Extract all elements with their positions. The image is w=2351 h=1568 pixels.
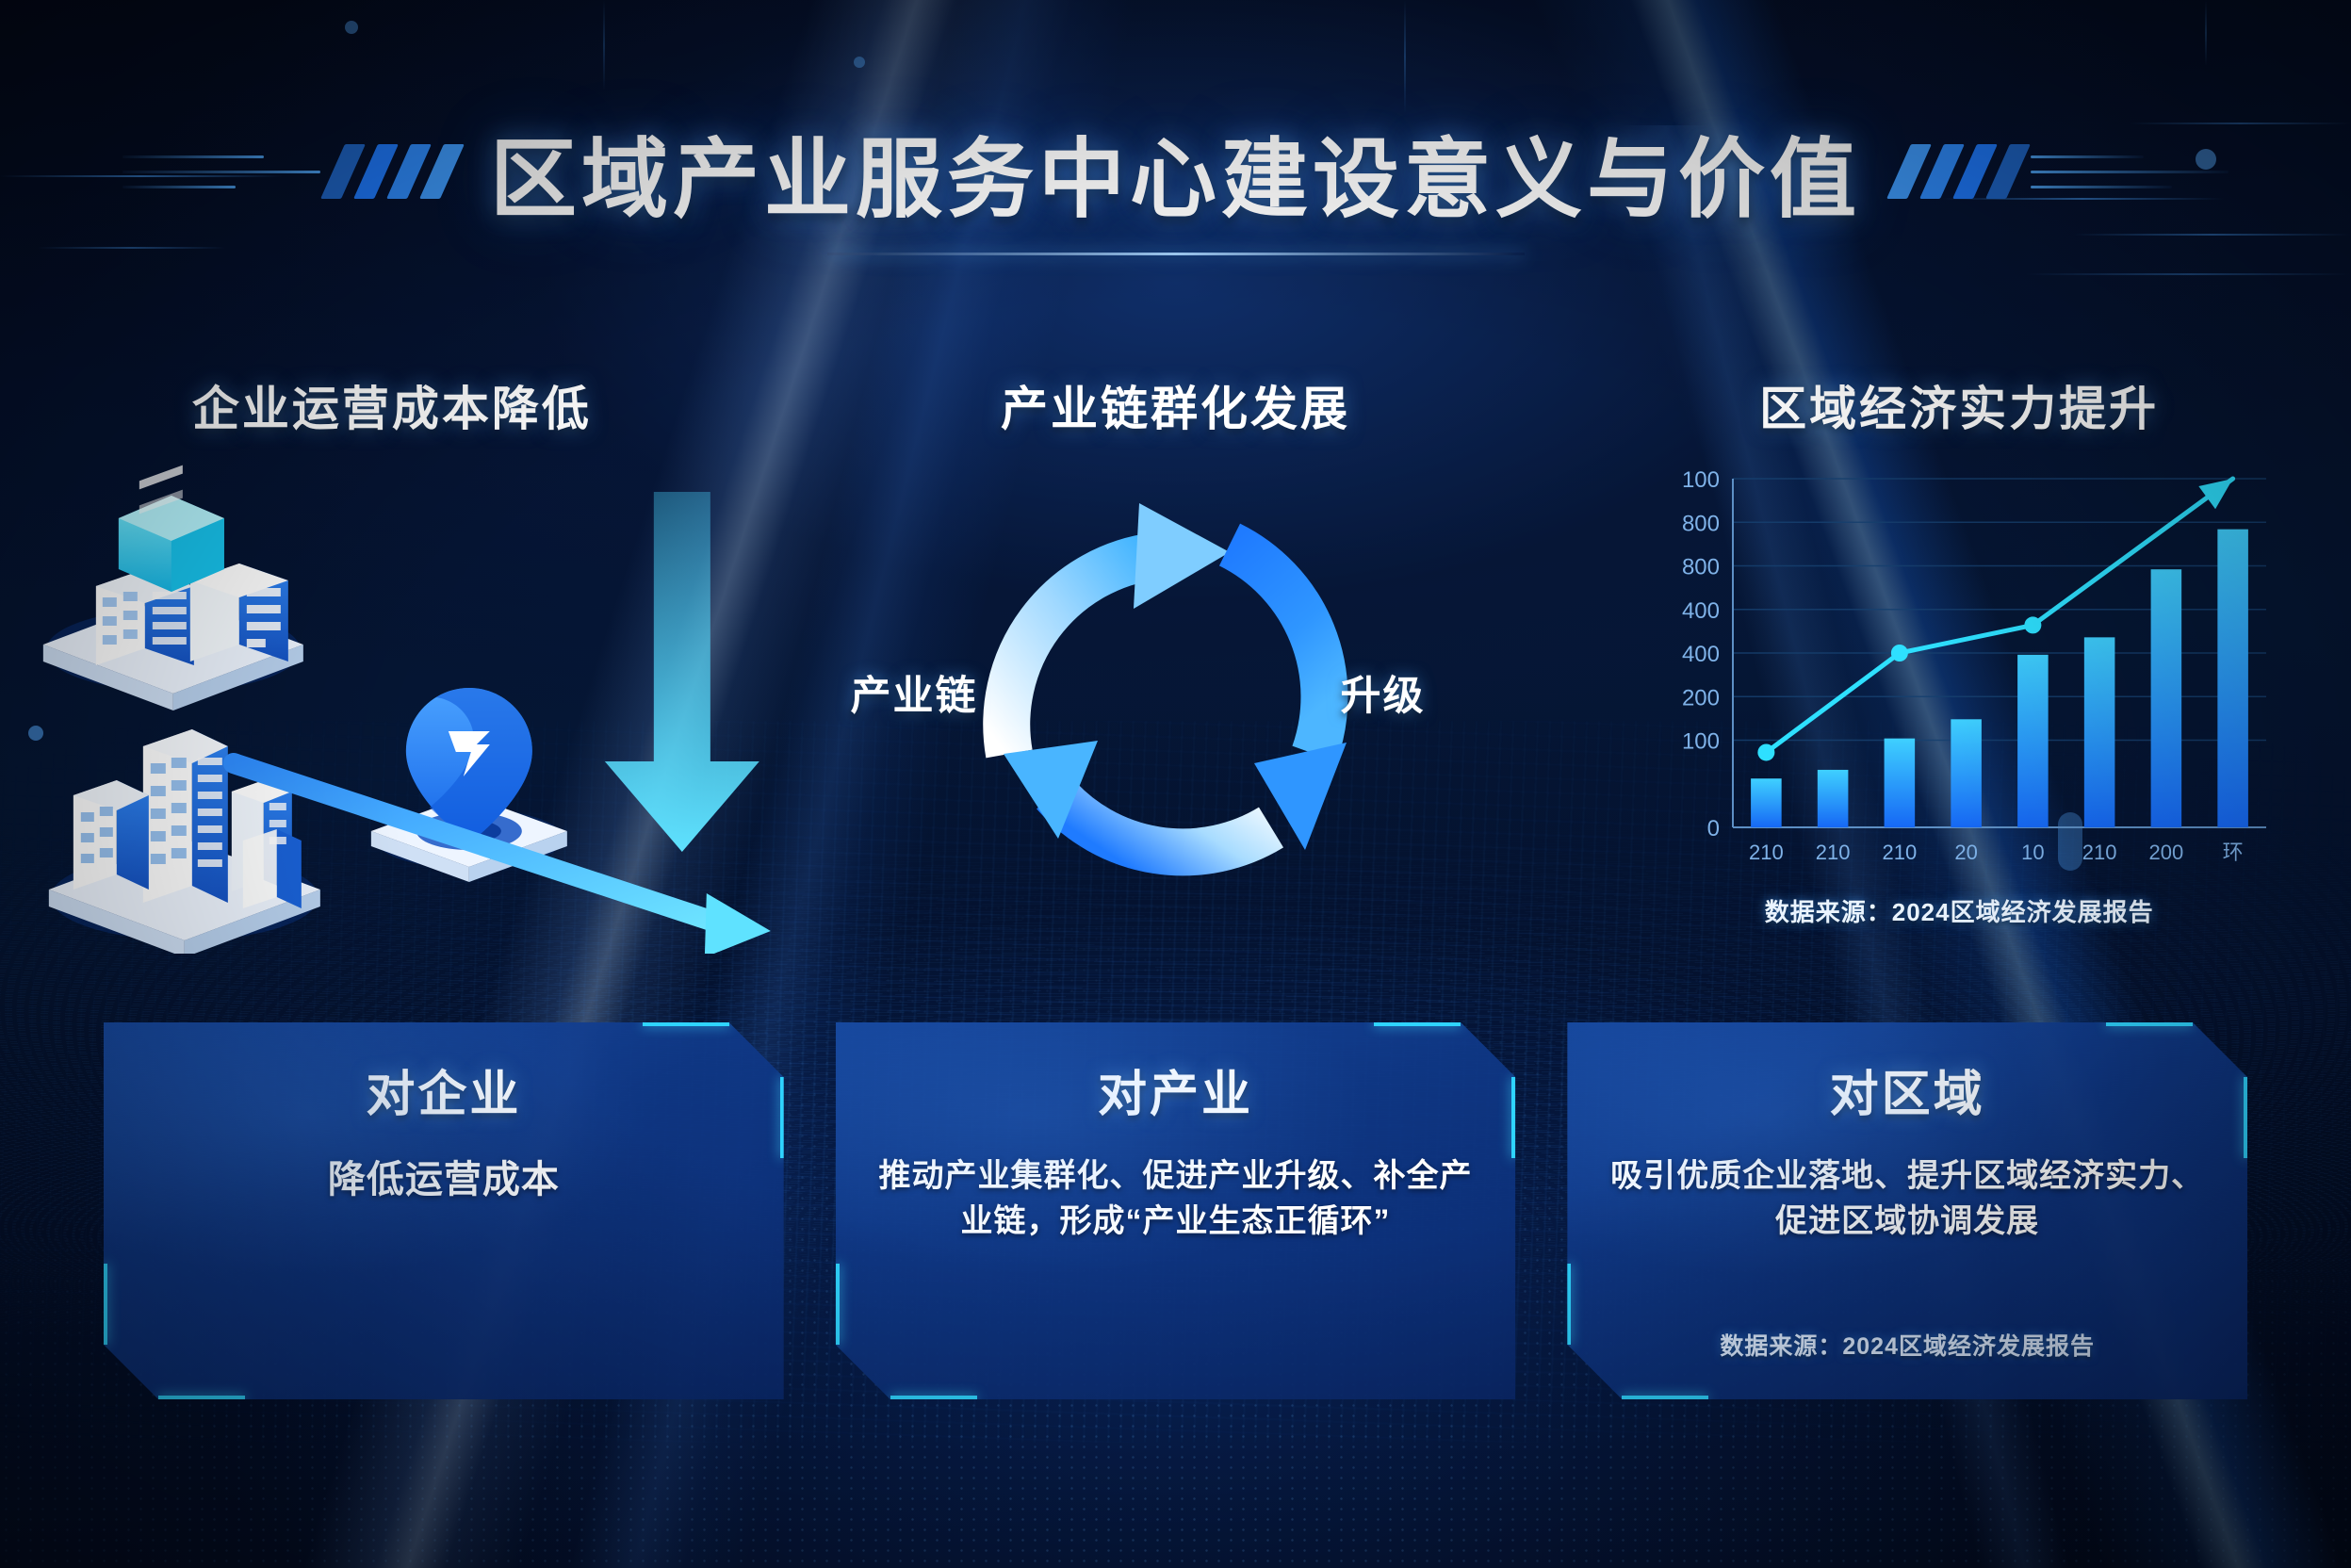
cost-down-arrow-icon [605, 492, 759, 852]
region-growth-chart: 1008008004004002001000 21021021020102102… [1567, 450, 2351, 940]
card-region[interactable]: 对区域 吸引优质企业落地、提升区域经济实力、促进区域协调发展 数据来源：2024… [1567, 1022, 2247, 1399]
column-enterprise: 企业运营成本降低 [0, 330, 784, 1055]
card-corner-accent [1567, 1264, 1571, 1345]
chart-y-axis-labels: 1008008004004002001000 [1682, 467, 1720, 841]
card-title: 对区域 [1830, 1054, 1985, 1125]
card-corner-accent [890, 1396, 977, 1399]
chart-bars [1751, 530, 2248, 827]
svg-text:100: 100 [1682, 729, 1720, 755]
svg-text:400: 400 [1682, 642, 1720, 667]
cycle-arrow-2 [1230, 545, 1347, 850]
deco-line [38, 247, 226, 249]
card-corner-accent [158, 1396, 245, 1399]
title-decoration-left [122, 144, 452, 199]
card-corner-accent [1374, 1022, 1461, 1026]
enterprise-illustration-svg [0, 464, 784, 954]
card-corner-accent [1622, 1396, 1708, 1399]
industry-cycle-illustration: 产业链 升级 [784, 449, 1568, 939]
cycle-arrow-3 [1004, 741, 1271, 852]
column-heading-1: 企业运营成本降低 [0, 371, 784, 439]
chart-source-note: 数据来源：2024区域经济发展报告 [1765, 893, 2154, 928]
card-corner-accent [780, 1077, 784, 1158]
title-decoration-right [1899, 144, 2229, 199]
svg-text:100: 100 [1682, 467, 1720, 493]
card-enterprise[interactable]: 对企业 降低运营成本 [104, 1022, 784, 1399]
city-cluster-icon [49, 729, 320, 954]
office-cluster-icon [43, 465, 303, 710]
card-body: 推动产业集群化、促进产业升级、补全产业链，形成“产业生态正循环” [875, 1153, 1477, 1245]
card-corner-accent [104, 1264, 107, 1345]
deco-line [2205, 0, 2207, 66]
card-title: 对产业 [1098, 1054, 1253, 1125]
chart-gridlines [1733, 479, 2266, 741]
cards-row: 对企业 降低运营成本 对产业 推动产业集群化、促进产业升级、补全产业链，形成“产… [104, 1022, 2247, 1399]
cycle-arrow-1 [1006, 503, 1230, 754]
deco-line [603, 0, 605, 90]
column-region: 区域经济实力提升 1008008004004002001000 21021021… [1567, 330, 2351, 1055]
card-title: 对企业 [366, 1054, 521, 1125]
svg-text:400: 400 [1682, 598, 1720, 624]
card-corner-accent [781, 1022, 839, 1080]
growth-chart-svg: 1008008004004002001000 21021021020102102… [1629, 450, 2289, 893]
svg-text:800: 800 [1682, 555, 1720, 580]
column-heading-2: 产业链群化发展 [784, 371, 1568, 439]
deco-dot [854, 57, 865, 68]
title-row: 区域产业服务中心建设意义与价值 [0, 111, 2351, 232]
svg-text:210: 210 [1749, 841, 1784, 864]
deco-dot [345, 21, 358, 34]
card-industry[interactable]: 对产业 推动产业集群化、促进产业升级、补全产业链，形成“产业生态正循环” [836, 1022, 1516, 1399]
cycle-label-right: 升级 [1341, 663, 1426, 722]
card-corner-accent [836, 1264, 840, 1345]
column-heading-3: 区域经济实力提升 [1567, 371, 2351, 439]
card-corner-accent [2244, 1077, 2247, 1158]
card-body: 降低运营成本 [328, 1153, 560, 1207]
card-body: 吸引优质企业落地、提升区域经济实力、促进区域协调发展 [1607, 1153, 2208, 1245]
page-title: 区域产业服务中心建设意义与价值 [452, 109, 1899, 235]
svg-text:10: 10 [2021, 841, 2044, 864]
title-underline [827, 253, 1525, 255]
svg-text:20: 20 [1955, 841, 1978, 864]
cycle-label-left: 产业链 [851, 663, 978, 722]
slide-background: 区域产业服务中心建设意义与价值 企业运营成本降低 [0, 0, 2351, 1568]
card-source-note: 数据来源：2024区域经济发展报告 [1720, 1328, 2095, 1371]
columns-row: 企业运营成本降低 [0, 330, 2351, 1055]
svg-text:环: 环 [2223, 841, 2244, 864]
svg-text:210: 210 [2082, 841, 2117, 864]
card-corner-accent [1513, 1022, 1571, 1080]
svg-text:200: 200 [2149, 841, 2184, 864]
card-corner-accent [1511, 1077, 1515, 1158]
svg-text:210: 210 [1816, 841, 1851, 864]
card-corner-accent [2106, 1022, 2193, 1026]
data-cube-icon [119, 465, 224, 592]
card-corner-accent [643, 1022, 729, 1026]
deco-line [2026, 273, 2351, 275]
column-industry: 产业链群化发展 [784, 330, 1568, 1055]
deco-line [1404, 0, 1406, 113]
svg-text:200: 200 [1682, 685, 1720, 710]
chart-x-axis-labels: 2102102102010210200环 [1749, 841, 2244, 864]
enterprise-illustration [0, 464, 784, 954]
card-corner-accent [1512, 1342, 1570, 1399]
svg-text:210: 210 [1883, 841, 1918, 864]
deco-line [2073, 234, 2351, 236]
svg-text:800: 800 [1682, 511, 1720, 536]
card-corner-accent [781, 1342, 839, 1399]
cycle-arrows-svg [955, 471, 1397, 914]
svg-text:0: 0 [1707, 816, 1720, 841]
